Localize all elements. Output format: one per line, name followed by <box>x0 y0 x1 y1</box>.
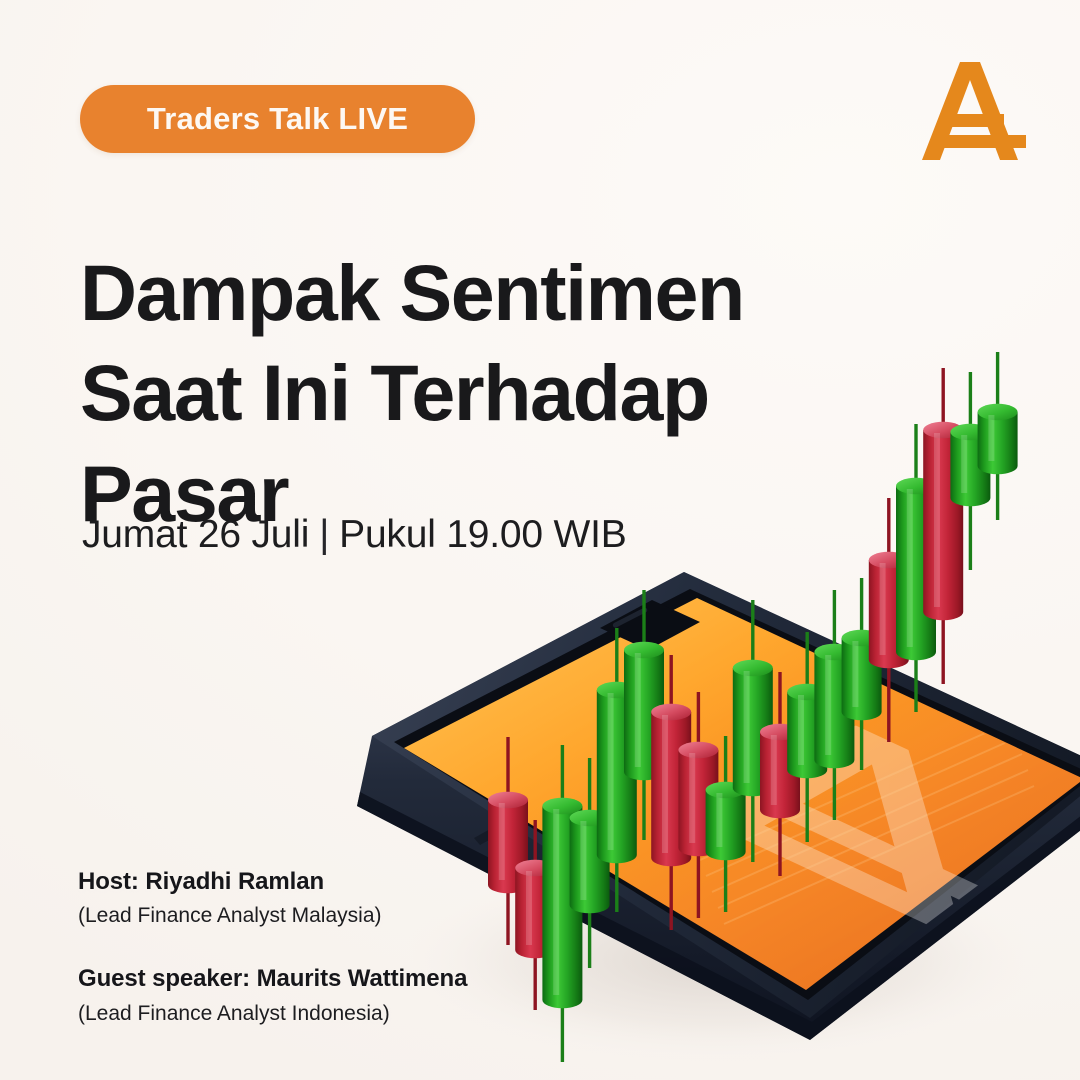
candle-15 <box>869 498 909 742</box>
candle-17 <box>923 368 963 684</box>
brand-logo <box>916 56 1032 168</box>
schedule-time: Pukul 19.00 WIB <box>339 513 626 556</box>
live-badge: Traders Talk LIVE <box>80 85 475 153</box>
candle-6 <box>624 590 664 840</box>
schedule-separator: | <box>319 513 329 557</box>
candle-13 <box>814 590 854 820</box>
candle-19 <box>978 352 1018 520</box>
page-title: Dampak Sentimen Saat Ini Terhadap Pasar <box>80 243 840 544</box>
candle-7 <box>651 655 691 930</box>
headline-line-2: Saat Ini Terhadap <box>80 343 840 443</box>
live-badge-label: Traders Talk LIVE <box>147 101 408 137</box>
credit-guest: Guest speaker: Maurits Wattimena (Lead F… <box>78 963 598 1026</box>
schedule-line: Jumat 26 Juli|Pukul 19.00 WIB <box>82 513 627 557</box>
headline-line-1: Dampak Sentimen <box>80 243 840 343</box>
schedule-date: Jumat 26 Juli <box>82 513 309 556</box>
guest-name: Guest speaker: Maurits Wattimena <box>78 963 598 994</box>
credit-host: Host: Riyadhi Ramlan (Lead Finance Analy… <box>78 866 598 929</box>
candle-5 <box>597 628 637 912</box>
host-name: Host: Riyadhi Ramlan <box>78 866 598 897</box>
candle-14 <box>842 578 882 770</box>
poster-canvas: Traders Talk LIVE Dampak Sentimen Saat I… <box>0 0 1080 1080</box>
ascenda-a-logo-icon <box>916 56 1032 168</box>
candle-18 <box>950 372 990 570</box>
candle-11 <box>760 672 800 876</box>
guest-role: (Lead Finance Analyst Indonesia) <box>78 1000 598 1027</box>
candle-12 <box>787 632 827 842</box>
screen-logo-watermark <box>696 676 1048 956</box>
host-role: (Lead Finance Analyst Malaysia) <box>78 902 598 929</box>
candle-16 <box>896 424 936 712</box>
candle-10 <box>733 600 773 862</box>
credits-block: Host: Riyadhi Ramlan (Lead Finance Analy… <box>78 866 598 1027</box>
candle-8 <box>678 692 718 918</box>
candle-9 <box>706 736 746 912</box>
